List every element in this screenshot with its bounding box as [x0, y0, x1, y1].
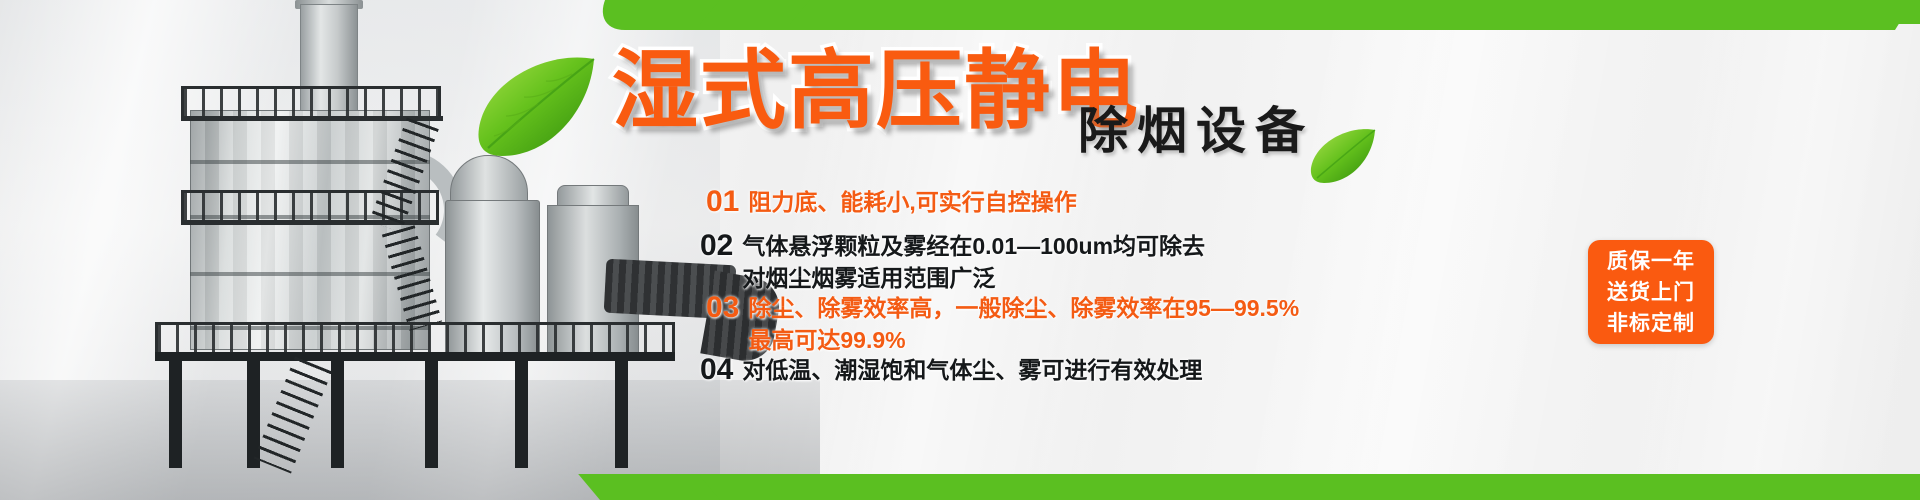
access-stairs	[254, 357, 332, 474]
feature-text: 气体悬浮颗粒及雾经在0.01—100um均可除去 对烟尘烟雾适用范围广泛	[742, 230, 1205, 294]
promo-banner: 湿式高压静电 除烟设备 01 阻力底、能耗小,可实行自控操作 02 气体悬浮颗粒…	[0, 0, 1920, 500]
feature-number: 02	[700, 230, 733, 262]
page-title: 湿式高压静电	[612, 48, 1140, 134]
headline: 湿式高压静电	[612, 48, 1140, 134]
feature-item-03: 03 除尘、除雾效率高，一般除尘、除雾效率在95—99.5% 最高可达99.9%	[706, 292, 1299, 356]
feature-line-1: 气体悬浮颗粒及雾经在0.01—100um均可除去	[742, 233, 1205, 259]
guarantee-badge: 质保一年 送货上门 非标定制	[1588, 240, 1714, 344]
support-leg	[615, 358, 628, 468]
feature-number: 01	[706, 186, 739, 218]
support-platform	[155, 352, 675, 361]
feature-text: 对低温、潮湿饱和气体尘、雾可进行有效处理	[742, 354, 1202, 386]
support-leg	[515, 358, 528, 468]
badge-line-2: 送货上门	[1607, 277, 1695, 308]
feature-text: 除尘、除雾效率高，一般除尘、除雾效率在95—99.5% 最高可达99.9%	[748, 292, 1299, 356]
feature-text: 阻力底、能耗小,可实行自控操作	[748, 186, 1076, 218]
feature-line-2: 最高可达99.9%	[748, 324, 1299, 356]
badge-line-3: 非标定制	[1607, 308, 1695, 339]
gantry-deck	[181, 116, 443, 121]
feature-item-02: 02 气体悬浮颗粒及雾经在0.01—100um均可除去 对烟尘烟雾适用范围广泛	[700, 230, 1205, 294]
feature-line-1: 除尘、除雾效率高，一般除尘、除雾效率在95—99.5%	[748, 295, 1299, 321]
support-leg	[331, 358, 344, 468]
feature-line-2: 对烟尘烟雾适用范围广泛	[742, 262, 1205, 294]
support-leg	[169, 358, 182, 468]
support-leg	[425, 358, 438, 468]
badge-line-1: 质保一年	[1607, 246, 1695, 277]
green-wedge-bottom-left	[578, 474, 720, 500]
feature-item-01: 01 阻力底、能耗小,可实行自控操作	[706, 186, 1077, 218]
feature-line-1: 阻力底、能耗小,可实行自控操作	[748, 189, 1076, 215]
light-streak	[1209, 0, 1650, 500]
page-subtitle: 除烟设备	[1078, 106, 1314, 156]
green-bar-bottom	[618, 474, 1920, 500]
handrail	[181, 86, 441, 116]
leaf-icon	[1310, 128, 1376, 184]
leaf-icon	[476, 56, 596, 158]
feature-number: 03	[706, 292, 739, 324]
green-bar-top	[760, 0, 1920, 24]
feature-line-1: 对低温、潮湿饱和气体尘、雾可进行有效处理	[742, 357, 1202, 383]
feature-number: 04	[700, 354, 733, 386]
feature-item-04: 04 对低温、潮湿饱和气体尘、雾可进行有效处理	[700, 354, 1202, 386]
